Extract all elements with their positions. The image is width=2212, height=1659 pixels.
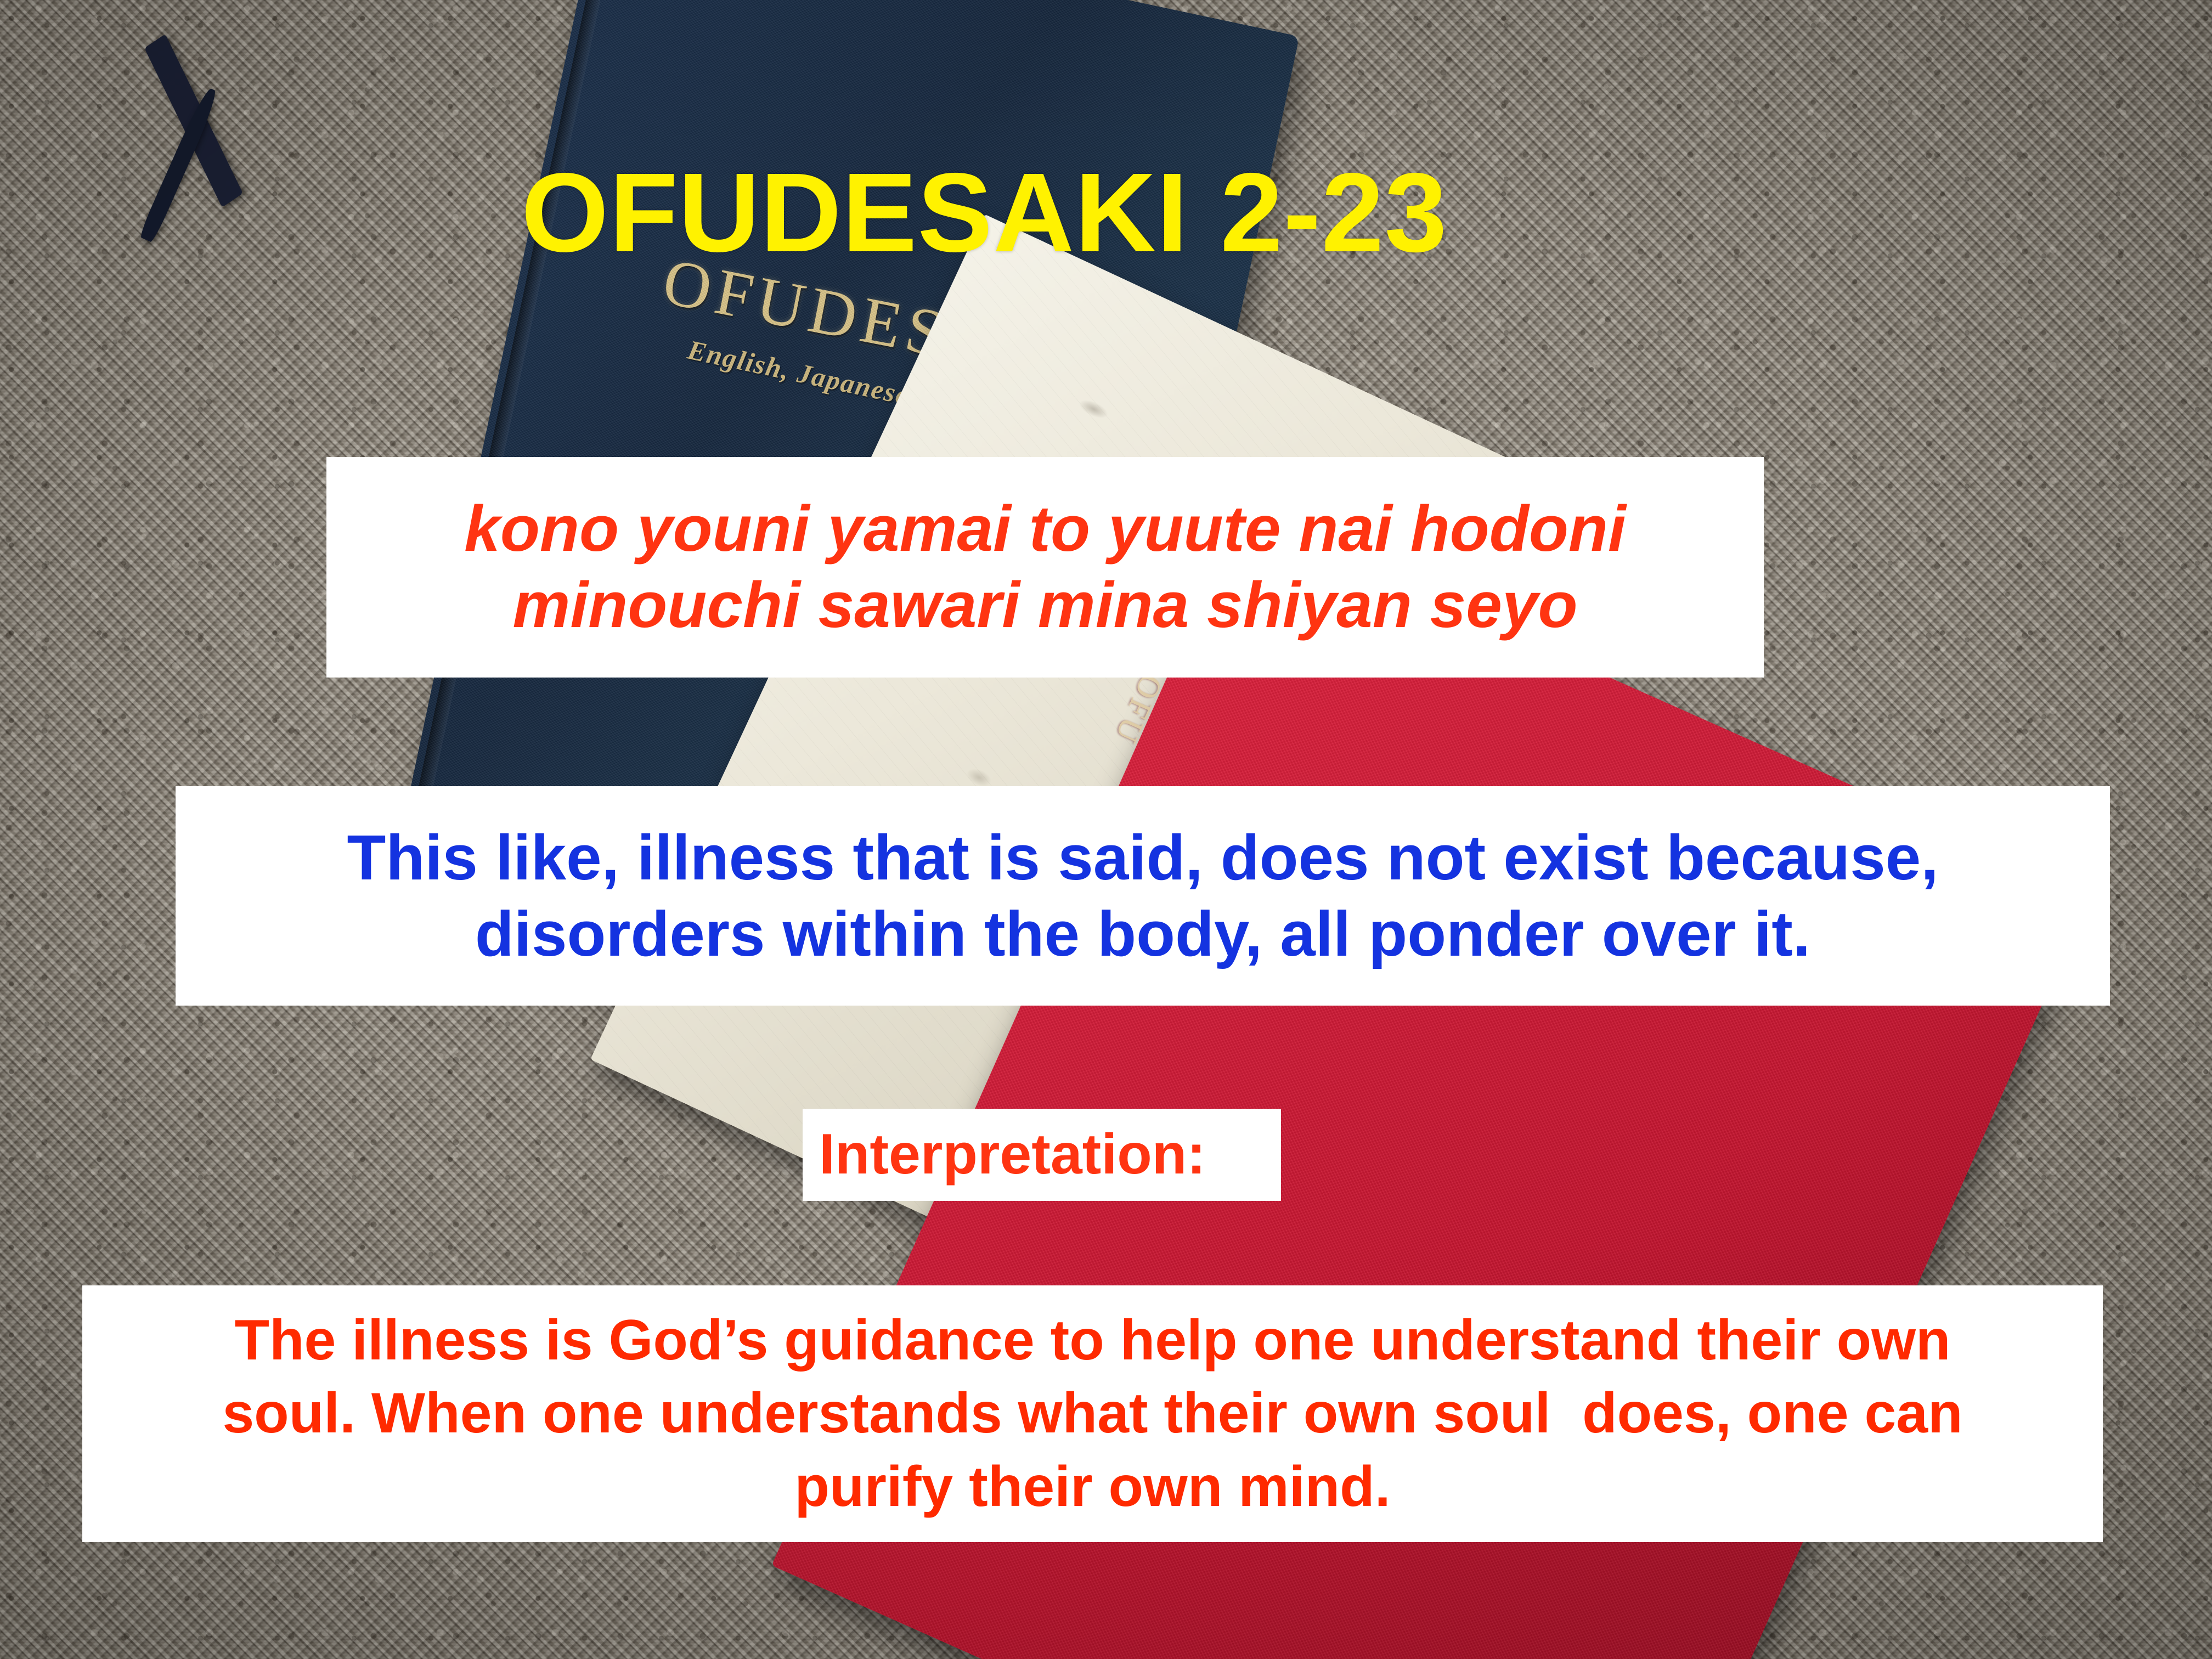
interpretation-body-line-2: soul. When one understands what their ow… (91, 1377, 2094, 1450)
interpretation-label: Interpretation: (807, 1125, 1277, 1184)
interpretation-body-line-1: The illness is God’s guidance to help on… (91, 1304, 2094, 1377)
english-line-1: This like, illness that is said, does no… (182, 820, 2103, 896)
interpretation-body-box: The illness is God’s guidance to help on… (82, 1285, 2103, 1542)
romaji-line-1: kono youni yamai to yuute nai hodoni (332, 491, 1758, 567)
english-line-2: disorders within the body, all ponder ov… (182, 896, 2103, 972)
interpretation-body-line-3: purify their own mind. (91, 1451, 2094, 1523)
interpretation-label-box: Interpretation: (803, 1109, 1281, 1201)
english-translation-box: This like, illness that is said, does no… (176, 786, 2110, 1006)
romaji-verse-box: kono youni yamai to yuute nai hodoni min… (326, 457, 1764, 678)
slide-title: OFUDESAKI 2-23 (521, 156, 1448, 269)
romaji-line-2: minouchi sawari mina shiyan seyo (332, 567, 1758, 644)
presentation-slide: OFUDESAKI English, Japanese, and Rom OFU… (0, 0, 2212, 1659)
